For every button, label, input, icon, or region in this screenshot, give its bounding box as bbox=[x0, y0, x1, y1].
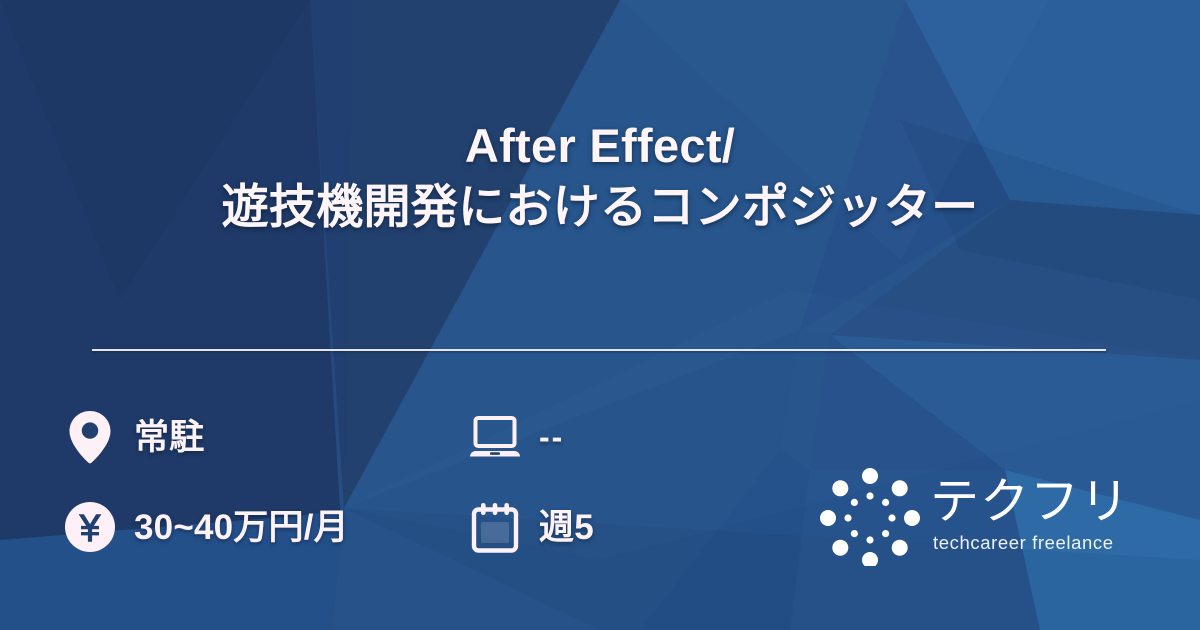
location-pin-icon bbox=[62, 409, 118, 465]
title-line-secondary: 遊技機開発におけるコンポジッター bbox=[0, 179, 1200, 234]
meta-label-pay: 30~40万円/月 bbox=[134, 510, 349, 545]
title-line-primary: After Effect/ bbox=[0, 118, 1200, 173]
laptop-icon bbox=[467, 409, 523, 465]
logo-text-group: テクフリ techcareer freelance bbox=[930, 478, 1130, 554]
title-divider bbox=[92, 349, 1106, 351]
dot-ring-icon bbox=[818, 466, 922, 566]
brand-logo: テクフリ techcareer freelance bbox=[818, 466, 1138, 566]
card-title: After Effect/ 遊技機開発におけるコンポジッター bbox=[0, 118, 1200, 235]
meta-row: 30~40万円/月 週5 bbox=[62, 482, 762, 572]
meta-label-remote: -- bbox=[539, 421, 564, 453]
meta-item-pay: 30~40万円/月 bbox=[62, 499, 467, 555]
yen-circle-icon bbox=[62, 499, 118, 555]
meta-label-work-style: 常駐 bbox=[134, 420, 204, 455]
meta-grid: 常駐 -- bbox=[62, 392, 762, 572]
meta-row: 常駐 -- bbox=[62, 392, 762, 482]
meta-item-remote: -- bbox=[467, 409, 757, 465]
calendar-icon bbox=[467, 499, 523, 555]
meta-item-work-style: 常駐 bbox=[62, 409, 467, 465]
meta-item-days: 週5 bbox=[467, 499, 757, 555]
logo-tagline: techcareer freelance bbox=[933, 532, 1130, 554]
logo-wordmark: テクフリ bbox=[930, 478, 1130, 528]
ogp-card: After Effect/ 遊技機開発におけるコンポジッター 常駐 bbox=[0, 0, 1200, 630]
meta-label-days: 週5 bbox=[539, 510, 594, 545]
